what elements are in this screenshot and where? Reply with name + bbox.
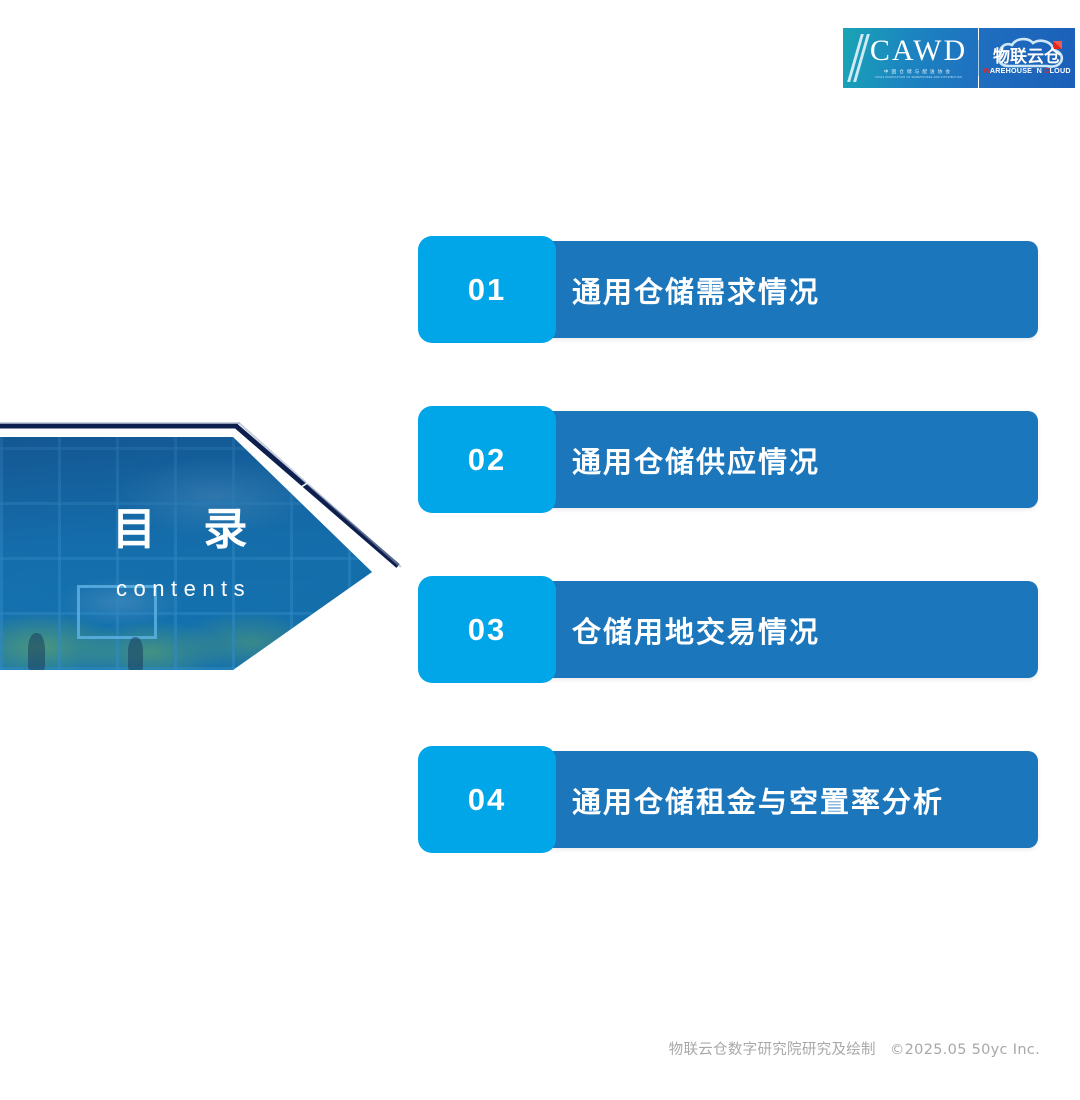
contents-item-number-03[interactable]: 03 [418,576,556,683]
contents-item-label: 通用仓储供应情况 [572,439,820,481]
cawd-acronym: CAWD [870,36,967,66]
contents-item-title-03[interactable]: 仓储用地交易情况 [520,581,1038,678]
list-item[interactable]: 通用仓储需求情况 01 [418,236,1038,343]
contents-item-label: 通用仓储需求情况 [572,269,820,311]
contents-item-number-text: 01 [468,272,506,308]
list-item[interactable]: 通用仓储租金与空置率分析 04 [418,746,1038,853]
contents-item-number-04[interactable]: 04 [418,746,556,853]
contents-item-label: 仓储用地交易情况 [572,609,820,651]
contents-item-title-04[interactable]: 通用仓储租金与空置率分析 [520,751,1038,848]
contents-item-number-text: 04 [468,782,506,818]
contents-item-title-02[interactable]: 通用仓储供应情况 [520,411,1038,508]
wlyc-chinese: 物联云仓 [993,48,1061,65]
cawd-english-subtitle: CHINA ASSOCIATION OF WAREHOUSES AND DIST… [872,77,964,79]
cawd-logo: CAWD 中国仓储与配送协会 CHINA ASSOCIATION OF WARE… [843,28,978,88]
footer: 物联云仓数字研究院研究及绘制©2025.05 50yc Inc. [0,1038,1040,1059]
cawd-text-group: CAWD 中国仓储与配送协会 CHINA ASSOCIATION OF WARE… [870,36,967,79]
wlyc-logo: 物联云仓 WAREHOUSE IN CLOUD [979,28,1075,88]
contents-item-label: 通用仓储租金与空置率分析 [572,779,944,821]
contents-item-number-02[interactable]: 02 [418,406,556,513]
double-slash-icon [853,28,866,88]
list-item[interactable]: 仓储用地交易情况 03 [418,576,1038,683]
header-logo-bar: CAWD 中国仓储与配送协会 CHINA ASSOCIATION OF WARE… [843,28,1075,88]
footer-credit: 物联云仓数字研究院研究及绘制 [669,1042,876,1058]
contents-item-number-text: 03 [468,612,506,648]
cawd-chinese-subtitle: 中国仓储与配送协会 [870,70,967,75]
list-item[interactable]: 通用仓储供应情况 02 [418,406,1038,513]
contents-item-title-01[interactable]: 通用仓储需求情况 [520,241,1038,338]
contents-item-number-01[interactable]: 01 [418,236,556,343]
wlyc-english: WAREHOUSE IN CLOUD [983,67,1071,74]
footer-copyright: ©2025.05 50yc Inc. [890,1042,1040,1058]
contents-item-number-text: 02 [468,442,506,478]
page-subtitle: contents [116,578,251,600]
page-title: 目 录 [112,508,263,552]
contents-list: 通用仓储需求情况 01 通用仓储供应情况 02 仓储用地交易情况 03 通用仓储… [418,236,1038,916]
